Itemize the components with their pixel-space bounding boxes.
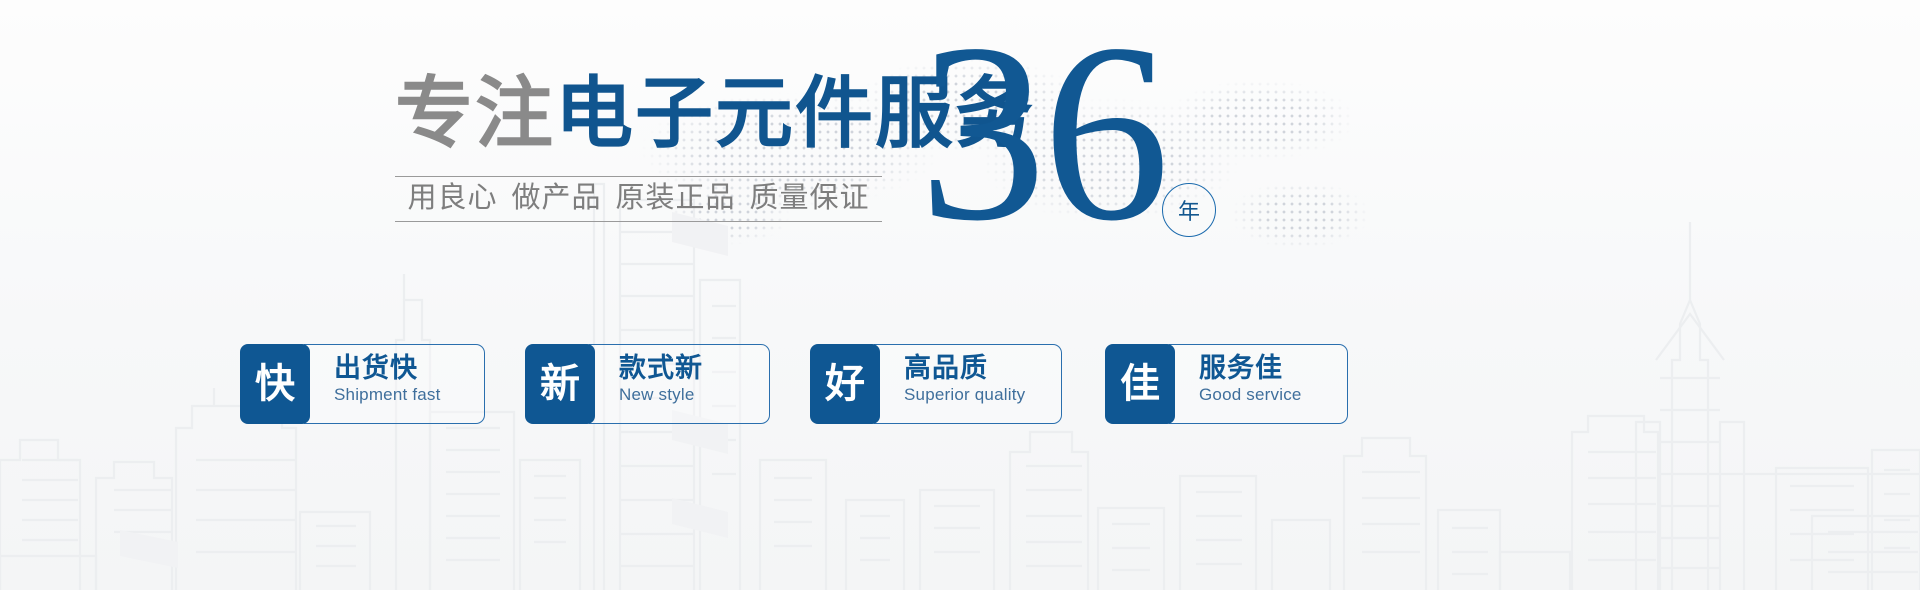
subtitle-bar: 用良心做产品原装正品质量保证 [395,176,882,222]
feature-card-body: 出货快 Shipment fast [304,344,485,424]
feature-card-title-en: Good service [1199,385,1347,405]
feature-card-title-en: New style [619,385,769,405]
subtitle-item-0: 用良心 [407,182,497,214]
feature-card-title-cn: 款式新 [619,354,769,382]
feature-card-badge-label: 好 [825,364,865,404]
subtitle-item-3: 质量保证 [750,182,870,214]
years-number: 36 [919,6,1166,261]
feature-card-superior-quality[interactable]: 好 高品质 Superior quality [810,344,1062,424]
feature-card-title-cn: 高品质 [904,354,1061,382]
feature-card-body: 服务佳 Good service [1169,344,1348,424]
feature-card-body: 高品质 Superior quality [874,344,1062,424]
feature-card-badge: 佳 [1105,344,1175,424]
subtitle-item-1: 做产品 [511,182,601,214]
feature-card-title-en: Superior quality [904,385,1061,405]
feature-card-shipment-fast[interactable]: 快 出货快 Shipment fast [240,344,485,424]
feature-card-new-style[interactable]: 新 款式新 New style [525,344,770,424]
feature-card-body: 款式新 New style [589,344,770,424]
feature-card-badge: 快 [240,344,310,424]
feature-card-badge-label: 新 [540,364,580,404]
feature-card-good-service[interactable]: 佳 服务佳 Good service [1105,344,1348,424]
feature-card-badge: 好 [810,344,880,424]
feature-card-title-cn: 出货快 [334,354,484,382]
subtitle-text: 用良心做产品原装正品质量保证 [395,183,882,214]
feature-card-badge-label: 佳 [1120,364,1160,404]
feature-card-list: 快 出货快 Shipment fast 新 款式新 New style 好 高品… [240,344,1660,426]
feature-card-title-cn: 服务佳 [1199,354,1347,382]
years-unit-label: 年 [1178,194,1200,226]
years-unit-badge: 年 [1162,183,1216,237]
headline-gray-text: 专注 [395,69,555,157]
feature-card-badge: 新 [525,344,595,424]
promo-banner: 专注电子元件服务 用良心做产品原装正品质量保证 36 年 快 出货快 Shipm… [0,0,1920,590]
feature-card-badge-label: 快 [255,364,295,404]
subtitle-item-2: 原装正品 [616,182,736,214]
feature-card-title-en: Shipment fast [334,385,484,405]
